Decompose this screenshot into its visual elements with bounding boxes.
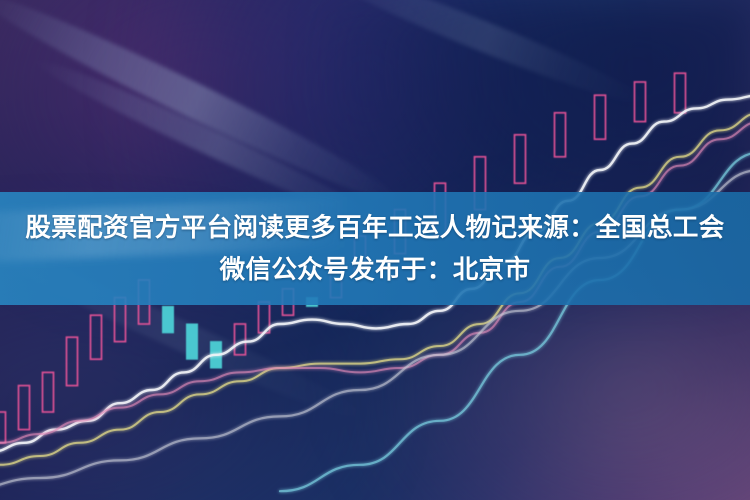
- headline-line-1: 股票配资官方平台阅读更多百年工运人物记来源：全国总工会: [25, 207, 724, 249]
- headline-banner: 股票配资官方平台阅读更多百年工运人物记来源：全国总工会 微信公众号发布于：北京市: [0, 192, 750, 305]
- headline-line-2: 微信公众号发布于：北京市: [220, 249, 531, 291]
- promo-image-canvas: 股票配资官方平台阅读更多百年工运人物记来源：全国总工会 微信公众号发布于：北京市: [0, 0, 750, 500]
